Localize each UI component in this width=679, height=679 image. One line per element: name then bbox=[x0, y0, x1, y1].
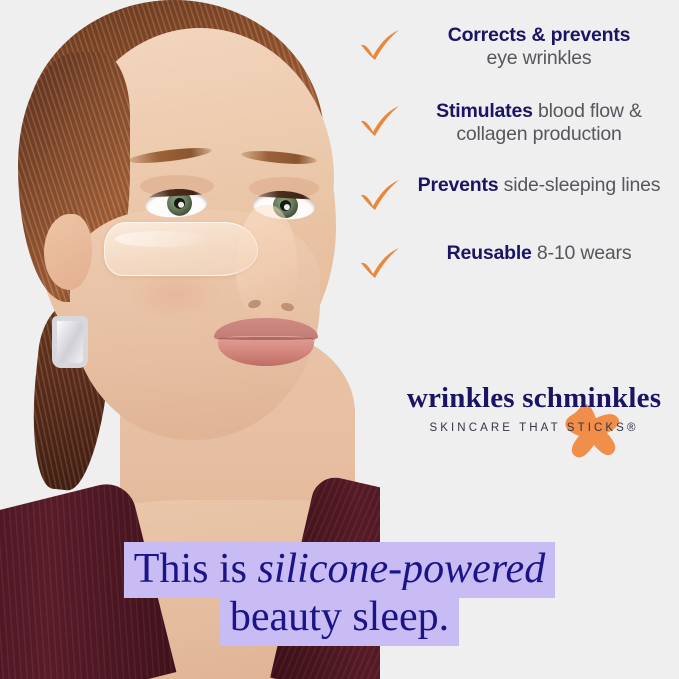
check-icon bbox=[358, 174, 404, 212]
silicone-eye-patch bbox=[104, 222, 258, 276]
benefit-text: Reusable 8-10 wears bbox=[404, 242, 674, 265]
earring bbox=[52, 316, 88, 368]
benefit-text: Corrects & prevents eye wrinkles bbox=[404, 24, 674, 70]
check-icon bbox=[358, 24, 404, 62]
check-icon bbox=[358, 100, 404, 138]
benefit-strong-text: Prevents bbox=[418, 174, 499, 196]
model-ear bbox=[44, 214, 92, 290]
benefit-item-reusable: Reusable 8-10 wears bbox=[358, 242, 674, 280]
benefit-rest-text: eye wrinkles bbox=[487, 47, 592, 69]
benefit-strong-text: Corrects & prevents bbox=[448, 24, 631, 46]
logo-tagline: SKINCARE THAT STICKS® bbox=[400, 422, 668, 434]
benefit-item-corrects: Corrects & prevents eye wrinkles bbox=[358, 24, 674, 70]
eye-glint bbox=[178, 202, 184, 208]
benefit-item-stimulates: Stimulates blood flow & collagen product… bbox=[358, 100, 674, 146]
tagline-line-2-highlight: beauty sleep. bbox=[220, 590, 459, 646]
benefit-rest-text: side-sleeping lines bbox=[498, 174, 660, 196]
benefit-text: Stimulates blood flow & collagen product… bbox=[404, 100, 674, 146]
logo-wordmark: wrinkles schminkles bbox=[400, 382, 668, 415]
brand-logo: wrinkles schminkles SKINCARE THAT STICKS… bbox=[400, 382, 668, 434]
tagline-line-1: This is silicone-powered bbox=[0, 548, 679, 590]
benefit-strong-text: Reusable bbox=[447, 242, 532, 264]
pupil-right bbox=[280, 200, 292, 212]
product-ad-image: Corrects & prevents eye wrinkles Stimula… bbox=[0, 0, 679, 679]
mouth-line bbox=[218, 337, 314, 340]
check-icon bbox=[358, 242, 404, 280]
patch-highlight bbox=[115, 231, 207, 247]
tagline-plain-text: This is bbox=[134, 546, 258, 592]
benefit-strong-text: Stimulates bbox=[436, 100, 533, 122]
eye-glint bbox=[284, 204, 290, 210]
benefit-text: Prevents side-sleeping lines bbox=[404, 174, 674, 197]
benefit-item-prevents: Prevents side-sleeping lines bbox=[358, 174, 674, 212]
tagline-banner: This is silicone-powered beauty sleep. bbox=[0, 548, 679, 644]
tagline-italic-text: silicone-powered bbox=[257, 546, 545, 592]
tagline-line-2: beauty sleep. bbox=[0, 596, 679, 638]
benefit-rest-text: 8-10 wears bbox=[532, 242, 632, 264]
benefits-list: Corrects & prevents eye wrinkles Stimula… bbox=[358, 14, 674, 280]
pupil-left bbox=[174, 198, 186, 210]
